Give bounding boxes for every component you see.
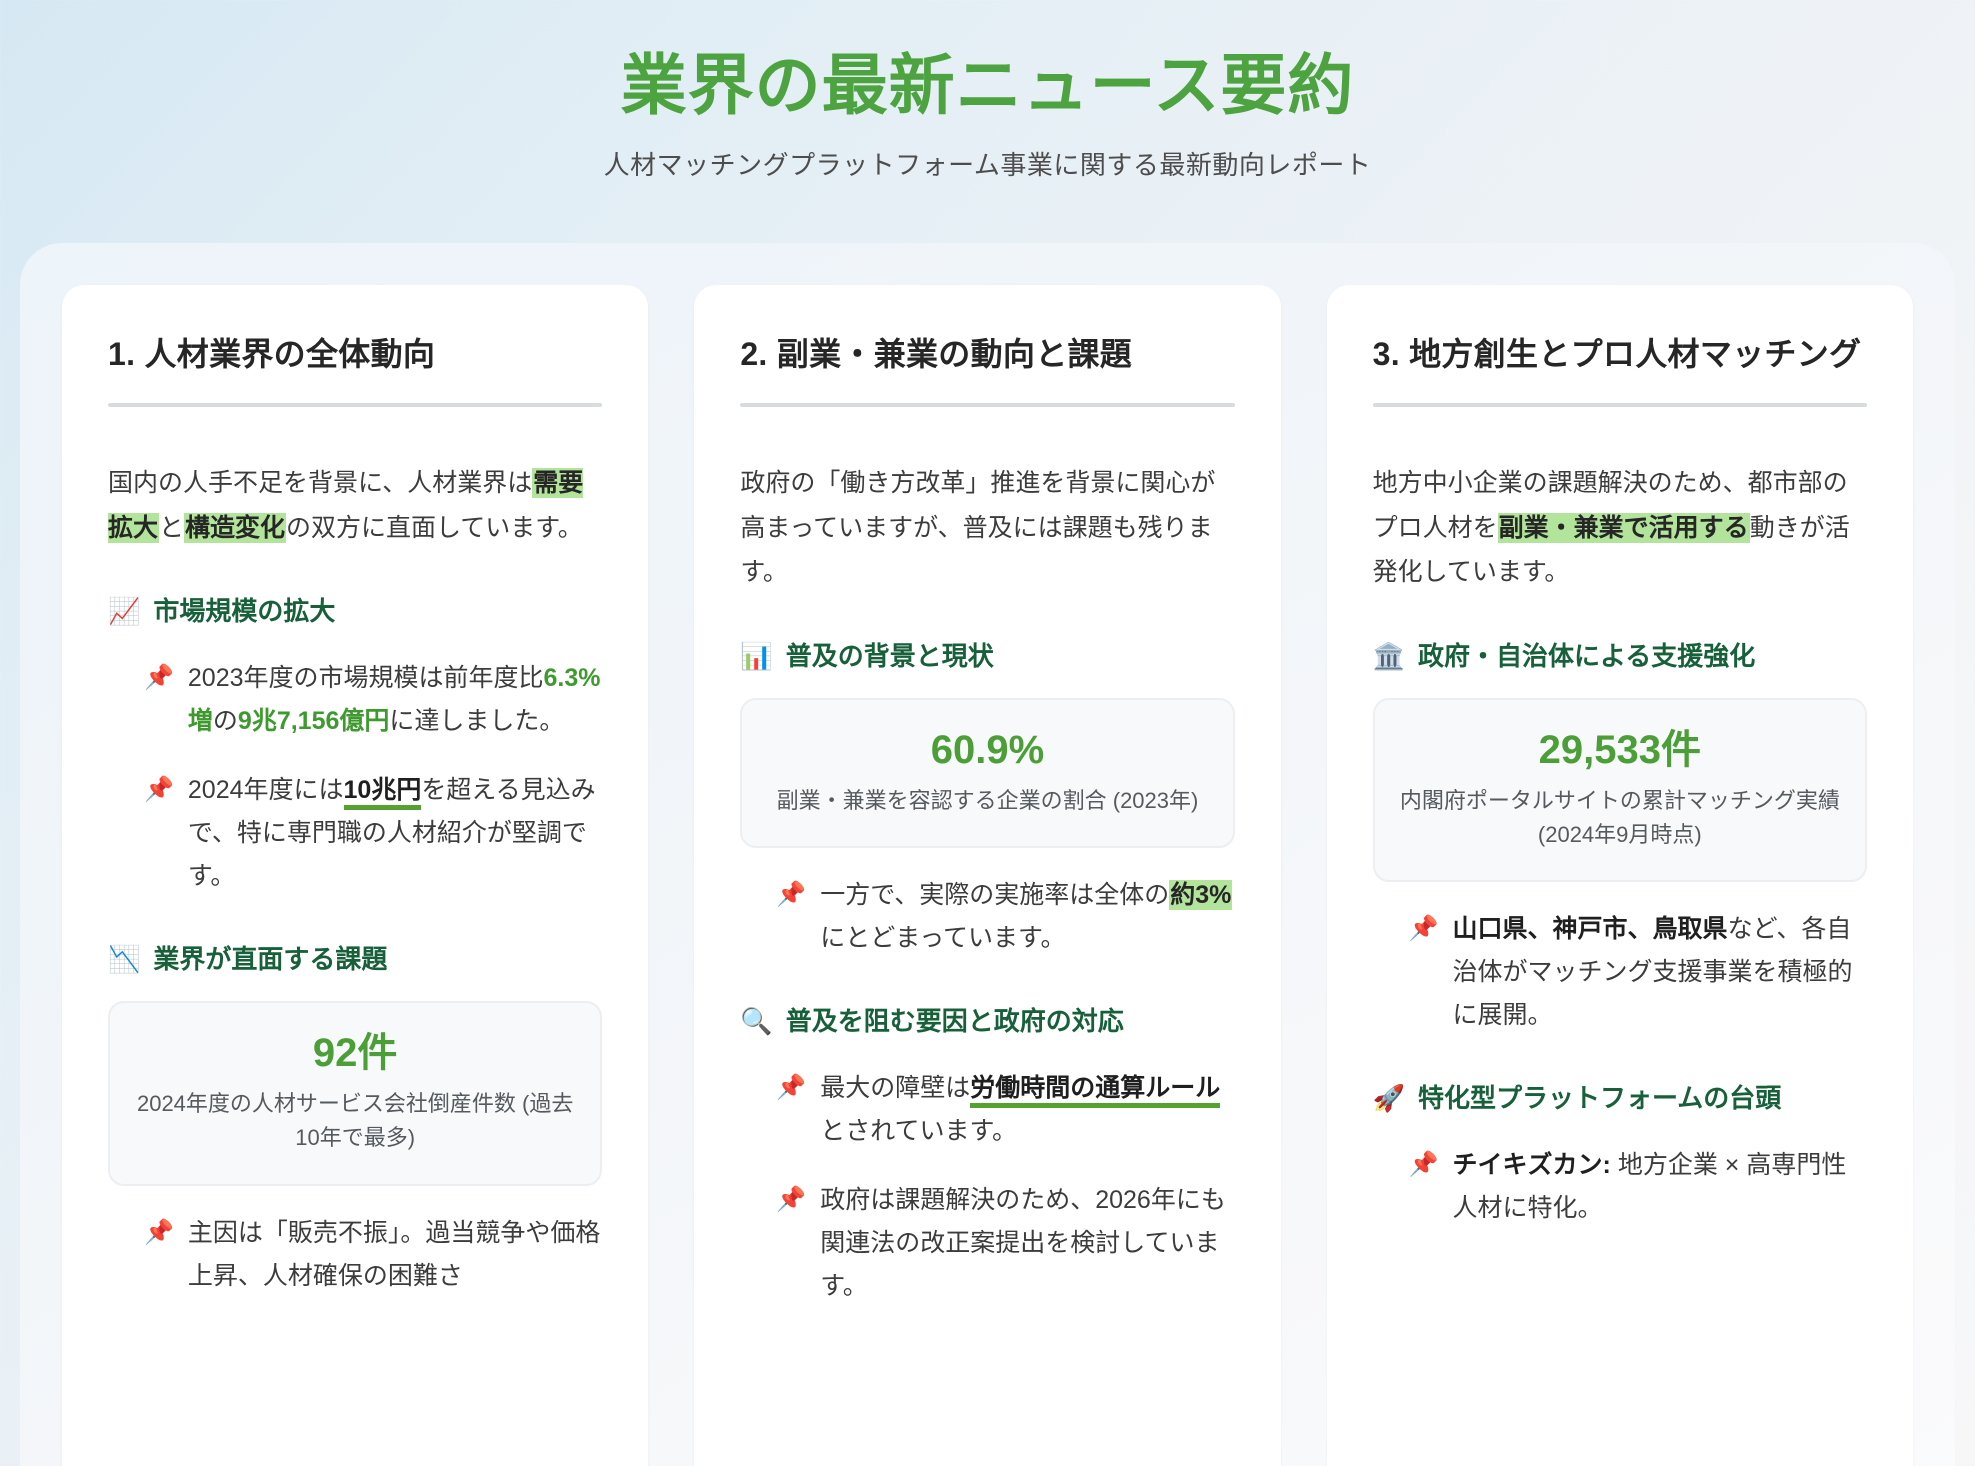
- pushpin-icon: 📌: [1409, 908, 1439, 1037]
- bullet-item: 📌2023年度の市場規模は前年度比6.3%増の9兆7,156億円に達しました。: [108, 657, 602, 743]
- news-card: 3. 地方創生とプロ人材マッチング地方中小企業の課題解決のため、都市部のプロ人材…: [1327, 285, 1913, 1466]
- bullet-text: 主因は「販売不振」。過当競争や価格上昇、人材確保の困難さ: [188, 1212, 602, 1298]
- bullet-text-part: 労働時間の通算ルール: [970, 1074, 1220, 1108]
- bullet-text-part: の: [213, 707, 238, 735]
- bullet-text-part: に達しました。: [389, 707, 564, 735]
- pushpin-icon: 📌: [776, 1067, 806, 1153]
- stat-box: 29,533件内閣府ポータルサイトの累計マッチング実績 (2024年9月時点): [1373, 698, 1867, 882]
- bullet-item: 📌2024年度には10兆円を超える見込みで、特に専門職の人材紹介が堅調です。: [108, 769, 602, 898]
- bullet-list: 📌主因は「販売不振」。過当競争や価格上昇、人材確保の困難さ: [108, 1212, 602, 1298]
- bullet-list: 📌チイキズカン: 地方企業 × 高専門性人材に特化。: [1373, 1144, 1867, 1230]
- page-title: 業界の最新ニュース要約: [0, 44, 1975, 127]
- bullet-text-part: 10兆円: [344, 776, 422, 810]
- lead-text: の双方に直面しています。: [286, 514, 583, 542]
- section-heading: 🔍普及を阻む要因と政府の対応: [740, 1002, 1234, 1041]
- bullet-text-part: 政府は課題解決のため、2026年にも関連法の改正案提出を検討しています。: [820, 1186, 1226, 1300]
- card-divider: [740, 403, 1234, 407]
- card-lead-paragraph: 地方中小企業の課題解決のため、都市部のプロ人材を副業・兼業で活用する動きが活発化…: [1373, 461, 1867, 595]
- bullet-text-part: にとどまっています。: [820, 924, 1065, 952]
- section-heading: 🚀特化型プラットフォームの台頭: [1373, 1079, 1867, 1118]
- cards-container: 1. 人材業界の全体動向国内の人手不足を背景に、人材業界は需要拡大と構造変化の双…: [62, 285, 1913, 1466]
- bar-chart-icon: 📊: [740, 637, 772, 676]
- bullet-text-part: 一方で、実際の実施率は全体の: [820, 881, 1169, 909]
- bullet-text-part: 9兆7,156億円: [238, 707, 389, 735]
- stat-label: 内閣府ポータルサイトの累計マッチング実績 (2024年9月時点): [1393, 784, 1847, 852]
- bullet-list: 📌山口県、神戸市、鳥取県など、各自治体がマッチング支援事業を積極的に展開。: [1373, 908, 1867, 1037]
- page-subtitle: 人材マッチングプラットフォーム事業に関する最新動向レポート: [0, 145, 1975, 182]
- bullet-item: 📌政府は課題解決のため、2026年にも関連法の改正案提出を検討しています。: [740, 1179, 1234, 1308]
- section-heading-label: 政府・自治体による支援強化: [1418, 637, 1755, 676]
- bullet-text: 2024年度には10兆円を超える見込みで、特に専門職の人材紹介が堅調です。: [188, 769, 602, 898]
- page-header: 業界の最新ニュース要約 人材マッチングプラットフォーム事業に関する最新動向レポー…: [0, 0, 1975, 182]
- chart-increasing-icon: 📈: [108, 592, 140, 631]
- stat-label: 2024年度の人材サービス会社倒産件数 (過去10年で最多): [128, 1087, 582, 1155]
- bullet-text-part: 2023年度の市場規模は前年度比: [188, 664, 544, 692]
- bullet-text-part: とされています。: [820, 1117, 1017, 1145]
- pushpin-icon: 📌: [144, 657, 174, 743]
- bullet-text-part: 2024年度には: [188, 776, 344, 804]
- stat-box: 60.9%副業・兼業を容認する企業の割合 (2023年): [740, 698, 1234, 848]
- card-divider: [1373, 403, 1867, 407]
- lead-highlight: 副業・兼業で活用する: [1498, 513, 1750, 543]
- stat-value: 92件: [128, 1029, 582, 1077]
- bullet-text: 一方で、実際の実施率は全体の約3%にとどまっています。: [820, 874, 1234, 960]
- lead-text: 国内の人手不足を背景に、人材業界は: [108, 469, 532, 497]
- bullet-item: 📌一方で、実際の実施率は全体の約3%にとどまっています。: [740, 874, 1234, 960]
- bullet-text: 山口県、神戸市、鳥取県など、各自治体がマッチング支援事業を積極的に展開。: [1453, 908, 1867, 1037]
- section-heading-label: 業界が直面する課題: [153, 940, 387, 979]
- lead-text: 政府の「働き方改革」推進を背景に関心が高まっていますが、普及には課題も残ります。: [740, 469, 1215, 586]
- pushpin-icon: 📌: [144, 1212, 174, 1298]
- card-title: 1. 人材業界の全体動向: [108, 331, 602, 377]
- bullet-text: 最大の障壁は労働時間の通算ルールとされています。: [820, 1067, 1234, 1153]
- card-title: 2. 副業・兼業の動向と課題: [740, 331, 1234, 377]
- card-divider: [108, 403, 602, 407]
- bullet-item: 📌山口県、神戸市、鳥取県など、各自治体がマッチング支援事業を積極的に展開。: [1373, 908, 1867, 1037]
- pushpin-icon: 📌: [1409, 1144, 1439, 1230]
- bullet-item: 📌最大の障壁は労働時間の通算ルールとされています。: [740, 1067, 1234, 1153]
- bullet-text: 政府は課題解決のため、2026年にも関連法の改正案提出を検討しています。: [820, 1179, 1234, 1308]
- news-card: 2. 副業・兼業の動向と課題政府の「働き方改革」推進を背景に関心が高まっています…: [694, 285, 1280, 1466]
- pushpin-icon: 📌: [776, 1179, 806, 1308]
- section-heading-label: 普及を阻む要因と政府の対応: [786, 1002, 1124, 1041]
- bullet-item: 📌主因は「販売不振」。過当競争や価格上昇、人材確保の困難さ: [108, 1212, 602, 1298]
- bullet-list: 📌2023年度の市場規模は前年度比6.3%増の9兆7,156億円に達しました。📌…: [108, 657, 602, 898]
- section-heading-label: 市場規模の拡大: [153, 592, 335, 631]
- lead-text: と: [159, 514, 184, 542]
- bullet-text-part: 山口県、神戸市、鳥取県: [1453, 915, 1728, 943]
- rocket-icon: 🚀: [1373, 1079, 1405, 1118]
- bullet-text: チイキズカン: 地方企業 × 高専門性人材に特化。: [1453, 1144, 1867, 1230]
- section-heading: 📈市場規模の拡大: [108, 592, 602, 631]
- section-heading: 📉業界が直面する課題: [108, 940, 602, 979]
- card-title: 3. 地方創生とプロ人材マッチング: [1373, 331, 1867, 377]
- lead-highlight: 構造変化: [184, 513, 286, 543]
- content-panel: 1. 人材業界の全体動向国内の人手不足を背景に、人材業界は需要拡大と構造変化の双…: [20, 243, 1955, 1466]
- pushpin-icon: 📌: [144, 769, 174, 898]
- bullet-text-part: 約3%: [1169, 880, 1232, 910]
- news-card: 1. 人材業界の全体動向国内の人手不足を背景に、人材業界は需要拡大と構造変化の双…: [62, 285, 648, 1466]
- bullet-text: 2023年度の市場規模は前年度比6.3%増の9兆7,156億円に達しました。: [188, 657, 602, 743]
- section-heading: 🏛️政府・自治体による支援強化: [1373, 637, 1867, 676]
- chart-decreasing-icon: 📉: [108, 940, 140, 979]
- card-lead-paragraph: 政府の「働き方改革」推進を背景に関心が高まっていますが、普及には課題も残ります。: [740, 461, 1234, 595]
- classical-building-icon: 🏛️: [1373, 637, 1405, 676]
- bullet-list: 📌一方で、実際の実施率は全体の約3%にとどまっています。: [740, 874, 1234, 960]
- magnifying-glass-icon: 🔍: [740, 1002, 772, 1041]
- stat-value: 60.9%: [760, 726, 1214, 774]
- stat-box: 92件2024年度の人材サービス会社倒産件数 (過去10年で最多): [108, 1001, 602, 1185]
- stat-value: 29,533件: [1393, 726, 1847, 774]
- bullet-list: 📌最大の障壁は労働時間の通算ルールとされています。📌政府は課題解決のため、202…: [740, 1067, 1234, 1308]
- section-heading-label: 普及の背景と現状: [786, 637, 994, 676]
- section-heading-label: 特化型プラットフォームの台頭: [1418, 1079, 1781, 1118]
- bullet-text-part: 最大の障壁は: [820, 1074, 970, 1102]
- bullet-text-part: 主因は「販売不振」。過当競争や価格上昇、人材確保の困難さ: [188, 1219, 601, 1290]
- bullet-text-part: チイキズカン:: [1453, 1151, 1611, 1179]
- bullet-item: 📌チイキズカン: 地方企業 × 高専門性人材に特化。: [1373, 1144, 1867, 1230]
- card-lead-paragraph: 国内の人手不足を背景に、人材業界は需要拡大と構造変化の双方に直面しています。: [108, 461, 602, 550]
- pushpin-icon: 📌: [776, 874, 806, 960]
- section-heading: 📊普及の背景と現状: [740, 637, 1234, 676]
- stat-label: 副業・兼業を容認する企業の割合 (2023年): [760, 784, 1214, 818]
